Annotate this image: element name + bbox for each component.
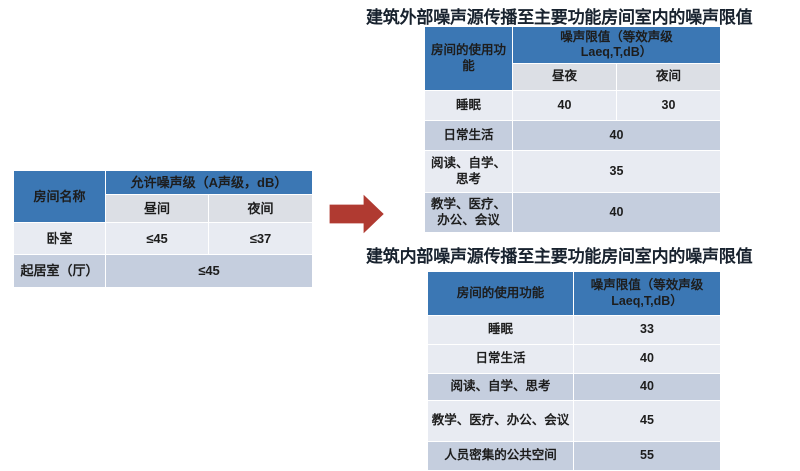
table-row: 日常生活 40 — [428, 345, 721, 374]
table-row: 睡眠 33 — [428, 316, 721, 345]
header-noise-limit-line1: 噪声限值（等效声级 — [576, 278, 718, 293]
row-label-reading-study-thinking: 阅读、自学、思考 — [428, 374, 574, 401]
cell-sleep-night: 30 — [617, 91, 721, 121]
header-noise-limit-line2: Laeq,T,dB） — [576, 294, 718, 309]
row-label-daily-life: 日常生活 — [428, 345, 574, 374]
row-label-teaching-medical-office-meeting: 教学、医疗、办公、会议 — [425, 193, 513, 233]
table-header-row: 房间的使用功能 噪声限值（等效声级 Laeq,T,dB） — [425, 27, 721, 64]
row-label-sleep: 睡眠 — [425, 91, 513, 121]
table-row: 人员密集的公共空间 55 — [428, 442, 721, 471]
table-row: 日常生活 40 — [425, 121, 721, 151]
table-row: 教学、医疗、办公、会议 45 — [428, 401, 721, 442]
table-row: 阅读、自学、思考 40 — [428, 374, 721, 401]
cell-bedroom-night: ≤37 — [209, 223, 313, 255]
cell-teaching-value: 40 — [513, 193, 721, 233]
bottom-table-title: 建筑内部噪声源传播至主要功能房间室内的噪声限值 — [366, 242, 752, 267]
header-noise-limit-group: 噪声限值（等效声级 Laeq,T,dB） — [574, 272, 721, 316]
cell-reading-value: 35 — [513, 151, 721, 193]
subheader-nighttime: 夜间 — [617, 64, 721, 91]
cell-daily-life-value: 40 — [574, 345, 721, 374]
table-row: 教学、医疗、办公、会议 40 — [425, 193, 721, 233]
row-label-crowded-public-space: 人员密集的公共空间 — [428, 442, 574, 471]
table-row: 睡眠 40 30 — [425, 91, 721, 121]
cell-reading-value: 40 — [574, 374, 721, 401]
table-header-row: 房间的使用功能 噪声限值（等效声级 Laeq,T,dB） — [428, 272, 721, 316]
interior-noise-limit-table: 房间的使用功能 噪声限值（等效声级 Laeq,T,dB） 睡眠 33 日常生活 … — [427, 271, 721, 471]
table-row: 阅读、自学、思考 35 — [425, 151, 721, 193]
cell-bedroom-day: ≤45 — [106, 223, 209, 255]
right-block-arrow-icon — [322, 183, 392, 245]
cell-sleep-day: 40 — [513, 91, 617, 121]
header-room-function-text: 房间的使用功能 — [431, 43, 506, 72]
table-row: 卧室 ≤45 ≤37 — [14, 223, 313, 255]
top-table-title: 建筑外部噪声源传播至主要功能房间室内的噪声限值 — [366, 3, 752, 28]
header-room-name: 房间名称 — [14, 171, 106, 223]
row-label-sleep: 睡眠 — [428, 316, 574, 345]
cell-crowded-public-space-value: 55 — [574, 442, 721, 471]
header-room-function: 房间的使用功能 — [425, 27, 513, 91]
row-label-bedroom: 卧室 — [14, 223, 106, 255]
cell-living-room-value: ≤45 — [106, 255, 313, 288]
cell-sleep-value: 33 — [574, 316, 721, 345]
row-label-daily-life: 日常生活 — [425, 121, 513, 151]
cell-teaching-value: 45 — [574, 401, 721, 442]
header-noise-limit-line2: Laeq,T,dB） — [515, 45, 718, 60]
subheader-day-night: 昼夜 — [513, 64, 617, 91]
exterior-noise-limit-table: 房间的使用功能 噪声限值（等效声级 Laeq,T,dB） 昼夜 夜间 睡眠 40… — [424, 26, 721, 233]
header-allowable-noise-group: 允许噪声级（A声级，dB） — [106, 171, 313, 195]
allowable-noise-level-table: 房间名称 允许噪声级（A声级，dB） 昼间 夜间 卧室 ≤45 ≤37 起居室（… — [13, 170, 313, 288]
table-header-row: 房间名称 允许噪声级（A声级，dB） — [14, 171, 313, 195]
table-row: 起居室（厅） ≤45 — [14, 255, 313, 288]
row-label-reading-study-thinking: 阅读、自学、思考 — [425, 151, 513, 193]
header-room-function: 房间的使用功能 — [428, 272, 574, 316]
slide-canvas: 房间名称 允许噪声级（A声级，dB） 昼间 夜间 卧室 ≤45 ≤37 起居室（… — [0, 0, 800, 462]
header-noise-limit-group: 噪声限值（等效声级 Laeq,T,dB） — [513, 27, 721, 64]
row-label-teaching-medical-office-meeting: 教学、医疗、办公、会议 — [428, 401, 574, 442]
subheader-nighttime: 夜间 — [209, 195, 313, 223]
subheader-daytime: 昼间 — [106, 195, 209, 223]
header-noise-limit-line1: 噪声限值（等效声级 — [515, 30, 718, 45]
row-label-living-room: 起居室（厅） — [14, 255, 106, 288]
cell-daily-life-value: 40 — [513, 121, 721, 151]
